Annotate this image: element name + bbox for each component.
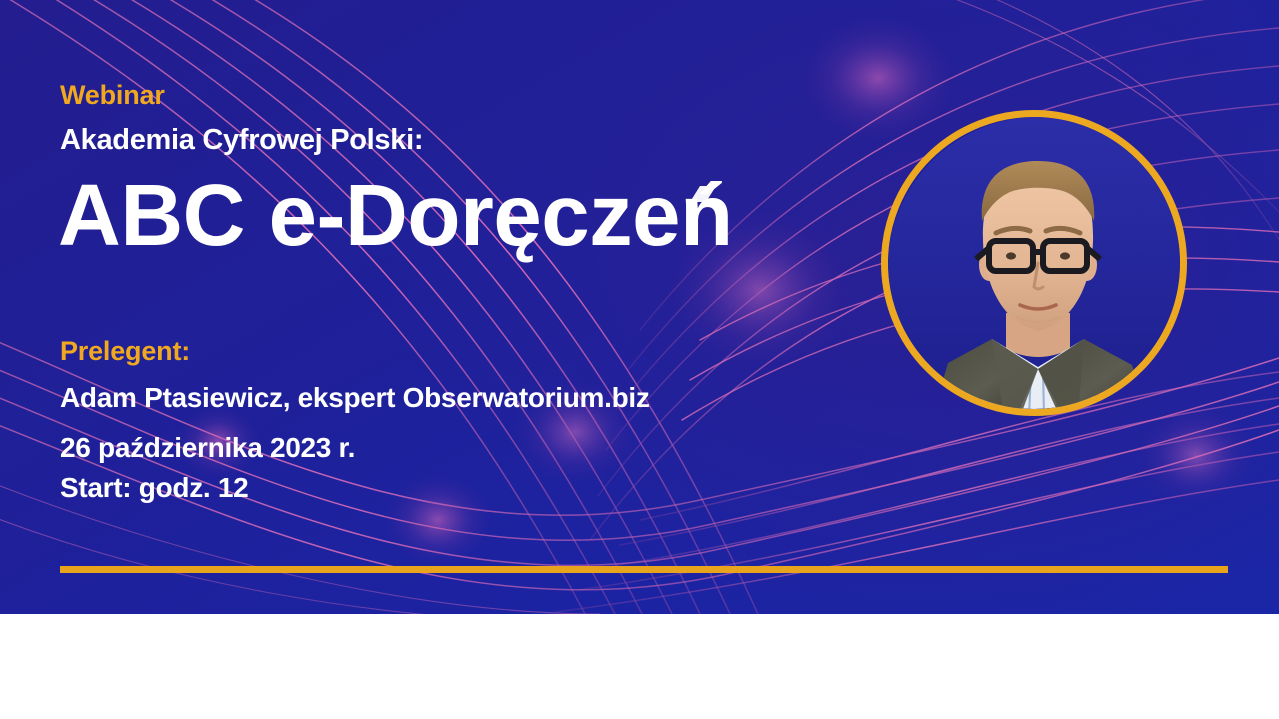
page-title: ABC e-Doręczeń: [58, 172, 733, 259]
webinar-banner: Webinar Akademia Cyfrowej Polski: ABC e-…: [0, 0, 1279, 719]
speaker-photo-illustration: [888, 117, 1180, 409]
event-time: Start: godz. 12: [60, 472, 248, 504]
hero-section: Webinar Akademia Cyfrowej Polski: ABC e-…: [0, 0, 1279, 614]
subtitle-label: Akademia Cyfrowej Polski:: [60, 124, 423, 157]
gold-divider: [60, 566, 1228, 573]
speaker-section-label: Prelegent:: [60, 336, 190, 367]
event-date: 26 października 2023 r.: [60, 432, 355, 464]
kicker-label: Webinar: [60, 80, 165, 111]
speaker-name: Adam Ptasiewicz, ekspert Obserwatorium.b…: [60, 382, 650, 414]
footer-bar: ORGANIZATOR:: [0, 614, 1279, 719]
partner-logos-row: ORGANIZATOR:: [0, 614, 1279, 719]
avatar-image: [888, 117, 1180, 409]
speaker-avatar: [881, 110, 1187, 416]
